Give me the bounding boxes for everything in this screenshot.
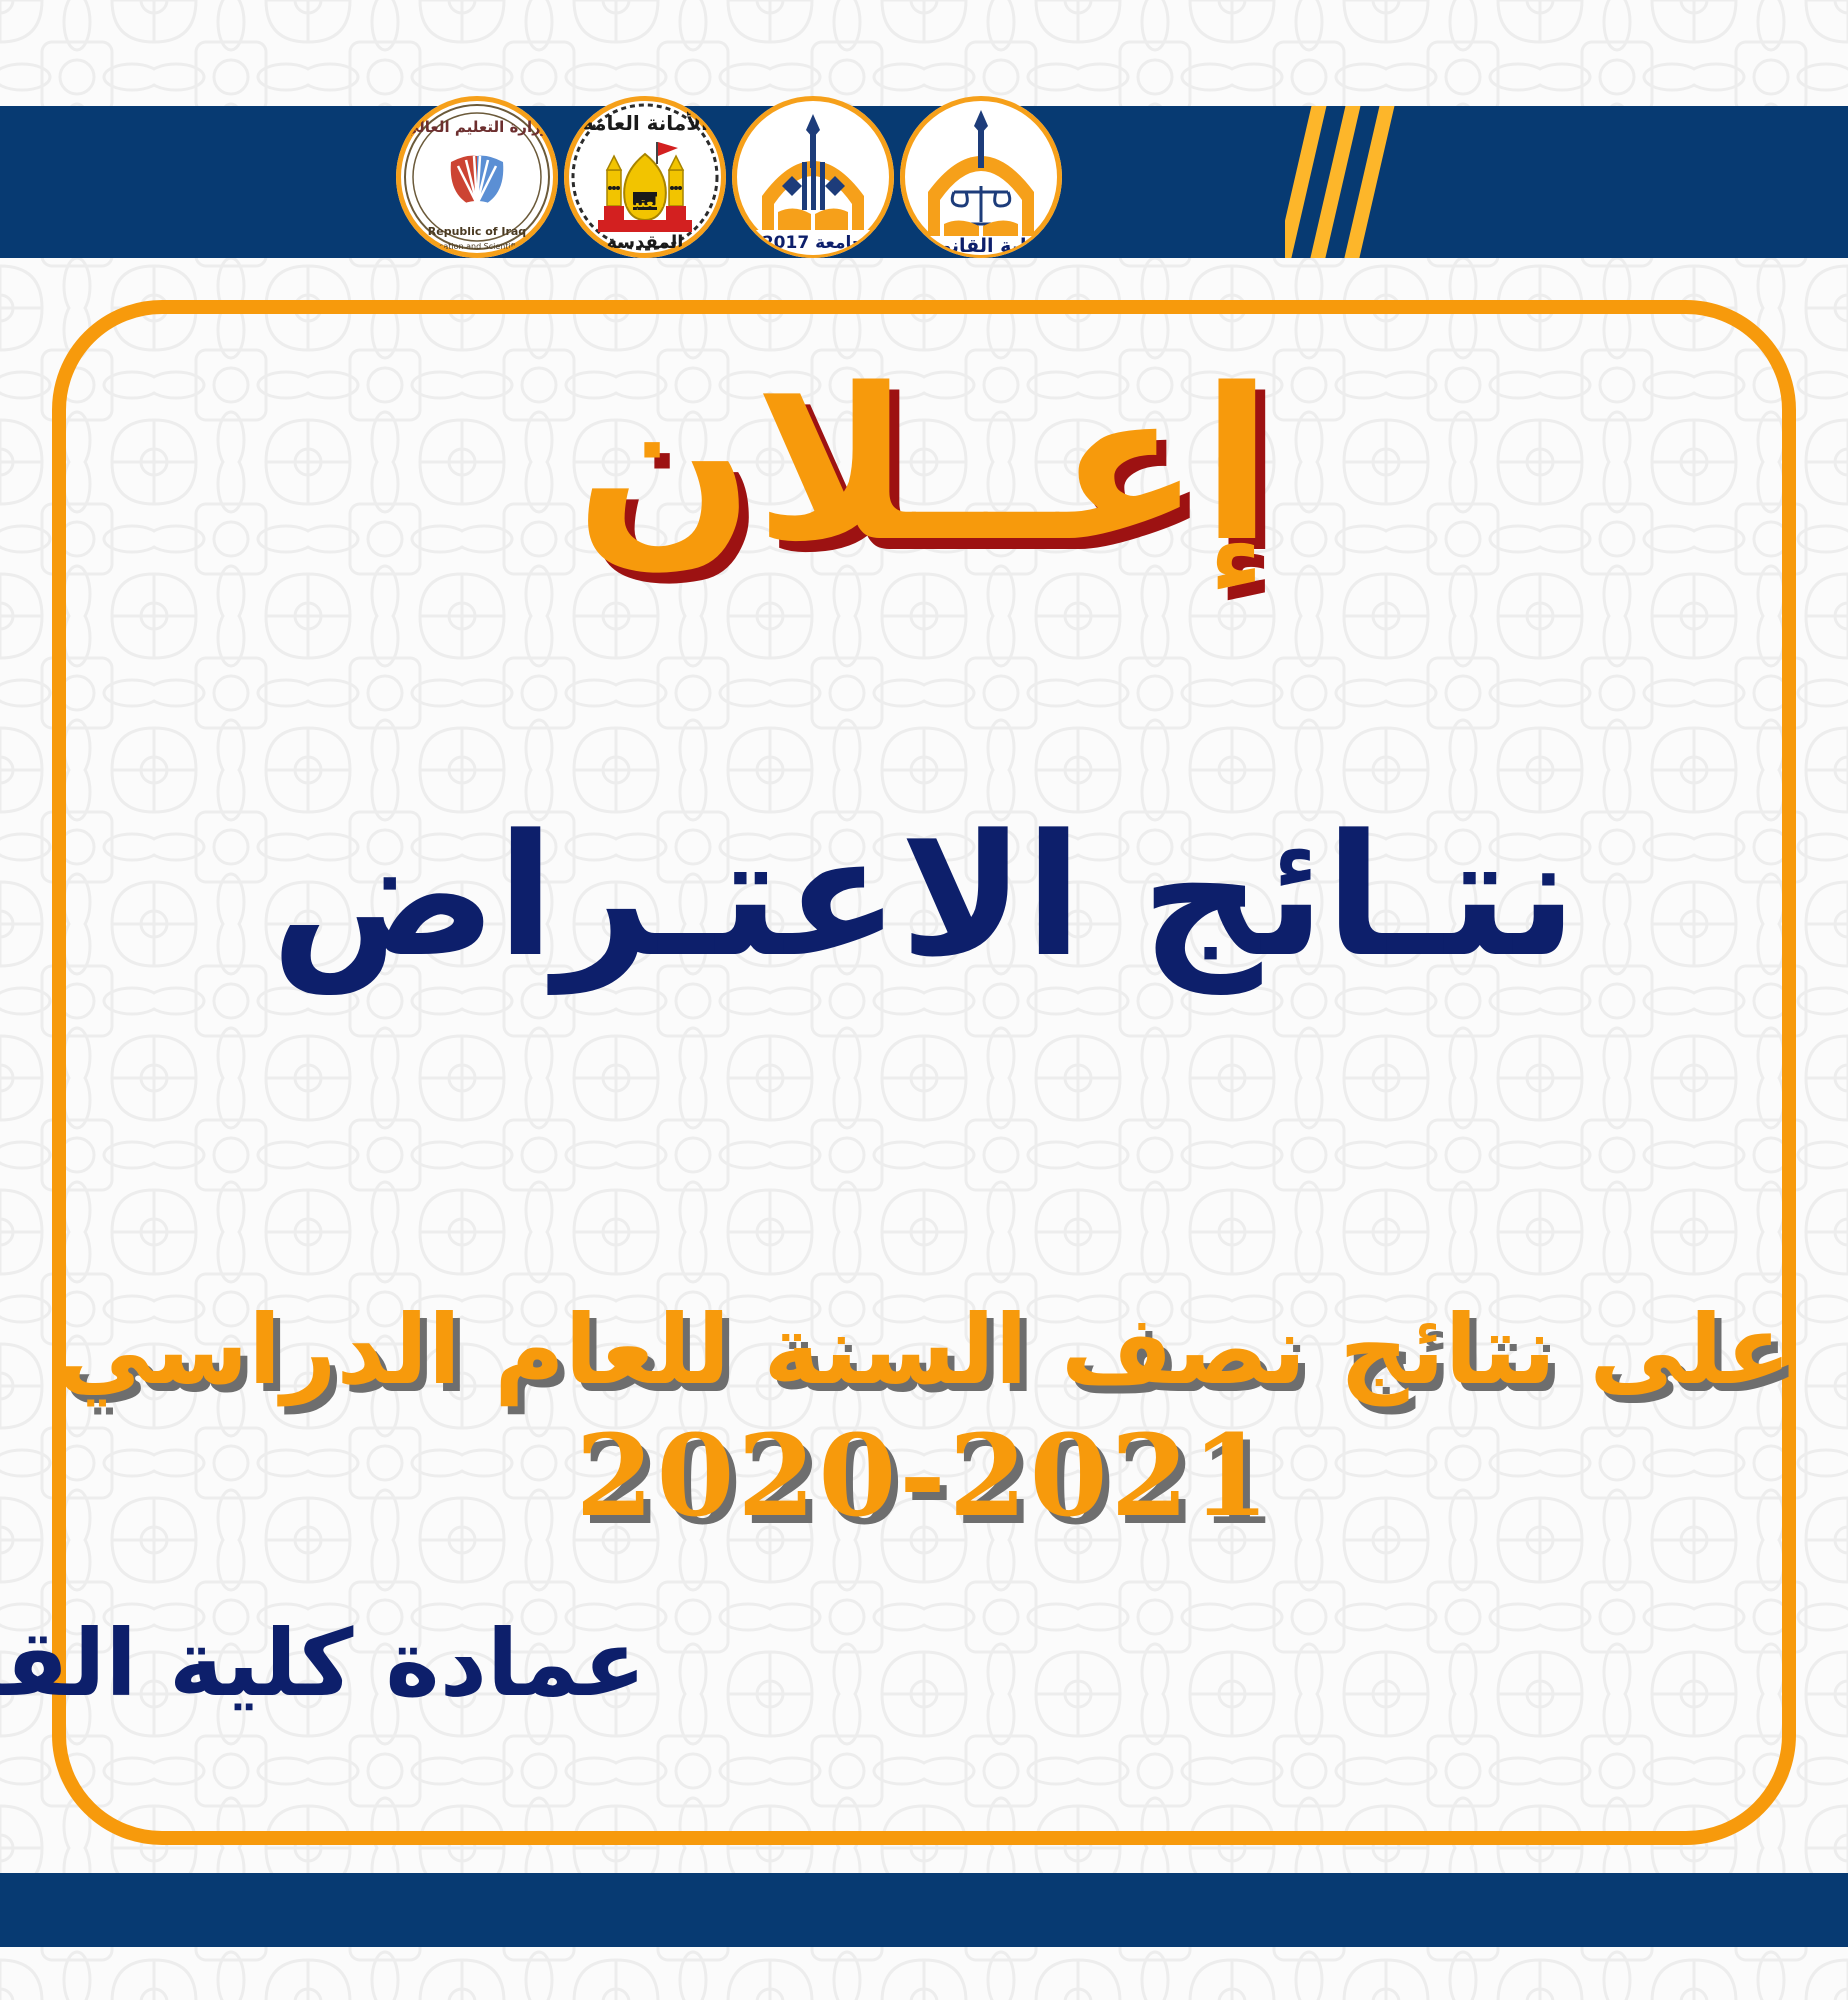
svg-text:وزارة التعليم العالي: وزارة التعليم العالي	[404, 118, 550, 136]
footer-navy-band	[0, 1873, 1848, 1947]
poster-content: إعــلان نتـائج الاعتـراض على نتائج نصف ا…	[52, 300, 1796, 1845]
svg-text:الأمانة العامة: الأمانة العامة	[582, 110, 708, 135]
svg-text:العتبة: العتبة	[626, 195, 664, 211]
header-diagonal-stripes	[1285, 106, 1435, 258]
svg-text:Higher Education and Scientifi: Higher Education and Scientific Research	[396, 242, 558, 251]
logo-college-of-law: كلية القانون	[900, 96, 1062, 258]
logo-ministry-higher-education: وزارة التعليم العالي	[396, 96, 558, 258]
logo-row: كلية القانون	[396, 96, 1062, 258]
page-title: إعــلان	[52, 350, 1796, 581]
svg-text:جامعة 2017: جامعة 2017	[762, 233, 864, 253]
logo-university-warith-al-anbiyaa: جامعة 2017	[732, 96, 894, 258]
academic-year: 2020-2021	[52, 1410, 1796, 1544]
svg-text:كلية القانون: كلية القانون	[924, 235, 1039, 257]
svg-text:المقدسة: المقدسة	[607, 232, 684, 253]
detail-line-scope: على نتائج نصف السنة للعام الدراسي	[52, 1290, 1796, 1410]
signature-deanship: عمادة كلية القانون	[0, 1610, 646, 1717]
detail-block: على نتائج نصف السنة للعام الدراسي 2020-2…	[52, 1290, 1796, 1544]
logo-holy-shrine: الأمانة العامة العتبة	[564, 96, 726, 258]
svg-text:Republic of Iraq: Republic of Iraq	[428, 225, 526, 238]
subtitle-heading: نتـائج الاعتـراض	[52, 800, 1796, 993]
announcement-poster: كلية القانون	[0, 0, 1848, 2000]
